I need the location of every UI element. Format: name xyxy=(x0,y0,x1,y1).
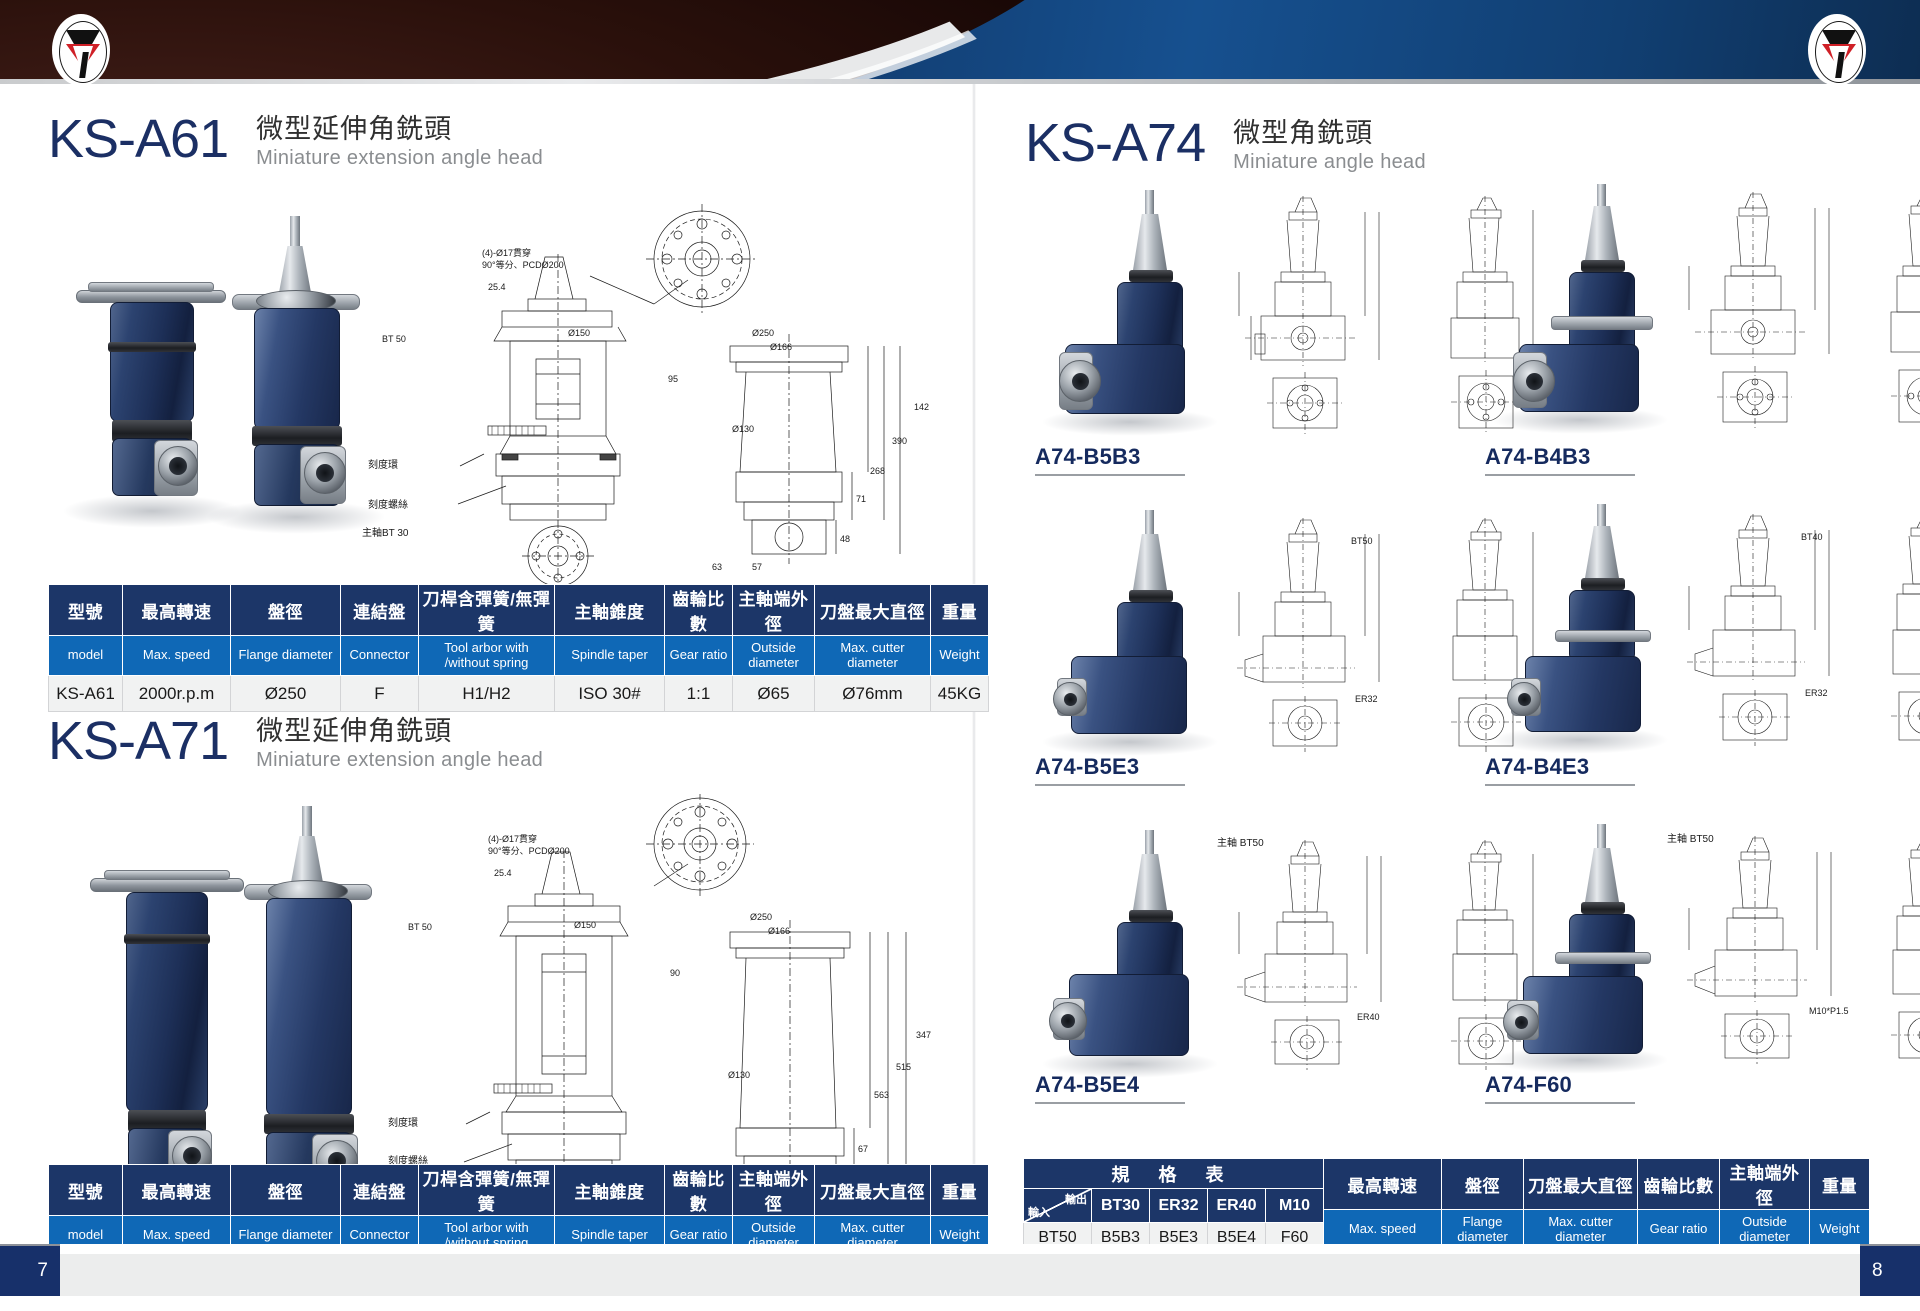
brand-logo-left xyxy=(52,14,110,84)
product-photo-ks-a61-taper xyxy=(196,202,396,532)
left-page: KS-A61 微型延伸角銑頭 Miniature extension angle… xyxy=(0,84,975,1244)
cad-dim-48: 48 xyxy=(840,534,850,544)
model-caption-a74-b4b3: A74-B4B3 xyxy=(1485,444,1635,473)
cad-label-b4e3-er32: ER32 xyxy=(1805,688,1828,698)
cad-dim-95: 95 xyxy=(668,374,678,384)
cad-label-a71-dia-mid: Ø250 xyxy=(750,912,772,922)
matrix-col-3: M10 xyxy=(1266,1189,1324,1223)
product-name-cn-ks-a74: 微型角銑頭 xyxy=(1233,118,1426,150)
cad-a74-b4e3: BT40 ER32 xyxy=(1675,510,1865,750)
cad-label-scale-ring: 刻度環 xyxy=(368,456,398,471)
model-label-a74-b5e3: A74-B5E3 xyxy=(1035,754,1139,779)
product-title-ks-a71: KS-A71 微型延伸角銑頭 Miniature extension angle… xyxy=(48,714,543,773)
cad-label-dia-mid: Ø250 xyxy=(752,328,774,338)
cad-label-dia-small: Ø130 xyxy=(732,424,754,434)
model-caption-a74-f60: A74-F60 xyxy=(1485,1072,1635,1101)
page-number-right: 8 xyxy=(1860,1244,1920,1296)
matrix-corner-output: 輸出 xyxy=(1065,1191,1087,1207)
spec-th-cn-a71-8: 刀盤最大直徑 xyxy=(815,1165,931,1216)
cad-a74-b4e3-side xyxy=(1855,510,1920,750)
page-number-left: 7 xyxy=(0,1244,60,1296)
catalog-spread: KS-A61 微型延伸角銑頭 Miniature extension angle… xyxy=(0,84,1920,1244)
spec-th-cn-5: 主軸錐度 xyxy=(555,585,665,636)
product-photo-a74-b5e4 xyxy=(1035,824,1225,1074)
spec-th-cn-2: 盤徑 xyxy=(231,585,341,636)
spec-td-3: F xyxy=(341,676,419,712)
spec-th-en-0: model xyxy=(49,636,123,676)
spec-th-cn-a74-5: 重量 xyxy=(1810,1159,1870,1210)
cad-dim-63: 63 xyxy=(712,562,722,572)
spec-td-1: 2000r.p.m xyxy=(123,676,231,712)
spec-th-cn-8: 刀盤最大直徑 xyxy=(815,585,931,636)
model-label-a74-b4b3: A74-B4B3 xyxy=(1485,444,1591,469)
matrix-header-row: 輸出 輸入 BT30 ER32 ER40 M10 xyxy=(1024,1189,1324,1223)
product-name-cn-ks-a71: 微型延伸角銑頭 xyxy=(256,716,543,748)
spec-td-8: Ø76mm xyxy=(815,676,931,712)
cad-label-a71-hole-note-2: 90°等分、PCDØ200 xyxy=(488,844,570,857)
cad-label-b5e3-er32: ER32 xyxy=(1355,694,1378,704)
cad-label-f60-m10: M10*P1.5 xyxy=(1809,1006,1849,1016)
cad-dim-390: 390 xyxy=(892,436,907,446)
product-photo-a74-b4b3 xyxy=(1485,180,1675,430)
product-code-ks-a74: KS-A74 xyxy=(1025,116,1205,170)
product-photo-ks-a71-taper xyxy=(208,792,408,1212)
cad-label-taper-bt50: BT 50 xyxy=(382,334,406,344)
cad-label-a71-scale-ring: 刻度環 xyxy=(388,1114,418,1129)
spec-td-4: H1/H2 xyxy=(419,676,555,712)
spec-th-cn-a71-5: 主軸錐度 xyxy=(555,1165,665,1216)
product-photo-a74-b5b3 xyxy=(1035,184,1225,434)
cad-dim-a71-67: 67 xyxy=(858,1144,868,1154)
spec-th-cn-a71-4: 刀桿含彈簧/無彈簧 xyxy=(419,1165,555,1216)
spec-th-en-2: Flange diameter xyxy=(231,636,341,676)
cad-dim-a71-347: 347 xyxy=(916,1030,931,1040)
product-photo-a74-b4e3 xyxy=(1485,500,1675,750)
spec-th-cn-4: 刀桿含彈簧/無彈簧 xyxy=(419,585,555,636)
cad-label-a71-dim-note: 25.4 xyxy=(494,868,512,878)
product-title-ks-a74: KS-A74 微型角銑頭 Miniature angle head xyxy=(1025,116,1426,175)
cad-a74-b4b3 xyxy=(1675,190,1865,430)
cad-dim-71: 71 xyxy=(856,494,866,504)
cad-label-dia-body: Ø166 xyxy=(770,342,792,352)
cad-a74-f60: 主軸 BT50 M10*P1.5 xyxy=(1675,828,1865,1068)
page-footer: 7 8 xyxy=(0,1244,1920,1311)
product-photo-a74-b5e3 xyxy=(1035,504,1225,754)
cad-dim-268: 268 xyxy=(870,466,885,476)
spec-header-row-cn-a74: 最高轉速 盤徑 刀盤最大直徑 齒輪比數 主軸端外徑 重量 xyxy=(1324,1159,1870,1210)
cad-label-a71-dia-small: Ø130 xyxy=(728,1070,750,1080)
spec-th-cn-a71-0: 型號 xyxy=(49,1165,123,1216)
spec-td-7: Ø65 xyxy=(733,676,815,712)
spec-td-2: Ø250 xyxy=(231,676,341,712)
page-header-banner xyxy=(0,0,1920,84)
cad-label-a71-taper-bt50: BT 50 xyxy=(408,922,432,932)
matrix-col-1: ER32 xyxy=(1150,1189,1208,1223)
spec-th-en-3: Connector xyxy=(341,636,419,676)
matrix-col-2: ER40 xyxy=(1208,1189,1266,1223)
spec-table-ks-a61: 型號 最高轉速 盤徑 連結盤 刀桿含彈簧/無彈簧 主軸錐度 齒輪比數 主軸端外徑… xyxy=(48,584,989,712)
matrix-title-row: 規 格 表 xyxy=(1024,1159,1324,1189)
cad-label-spindle-bt30: 主軸BT 30 xyxy=(362,524,409,539)
cad-dim-a71-563: 563 xyxy=(874,1090,889,1100)
spec-th-cn-7: 主軸端外徑 xyxy=(733,585,815,636)
spec-th-en-5: Spindle taper xyxy=(555,636,665,676)
cad-label-f60-spindle-bt50: 主軸 BT50 xyxy=(1667,830,1714,845)
model-label-a74-b4e3: A74-B4E3 xyxy=(1485,754,1589,779)
product-name-en-ks-a71: Miniature extension angle head xyxy=(256,748,543,773)
spec-th-cn-3: 連結盤 xyxy=(341,585,419,636)
cad-label-b5e4-er40: ER40 xyxy=(1357,1012,1380,1022)
cad-label-a71-dia-top: Ø150 xyxy=(574,920,596,930)
spec-header-row-cn-a71: 型號 最高轉速 盤徑 連結盤 刀桿含彈簧/無彈簧 主軸錐度 齒輪比數 主軸端外徑… xyxy=(49,1165,989,1216)
cad-dim-a71-90: 90 xyxy=(670,968,680,978)
cad-dim-142: 142 xyxy=(914,402,929,412)
spec-th-cn-a71-1: 最高轉速 xyxy=(123,1165,231,1216)
spec-th-en-7: Outside diameter xyxy=(733,636,815,676)
cad-label-b5e4-spindle-bt50: 主軸 BT50 xyxy=(1217,834,1264,849)
model-caption-a74-b5b3: A74-B5B3 xyxy=(1035,444,1185,473)
cad-a74-b5e4: 主軸 BT50 ER40 xyxy=(1225,832,1415,1072)
spec-th-cn-a74-3: 齒輪比數 xyxy=(1638,1159,1720,1210)
model-caption-a74-b4e3: A74-B4E3 xyxy=(1485,754,1635,783)
cad-label-b5e3-bt50: BT50 xyxy=(1351,536,1373,546)
catalog-page-spread: KS-A61 微型延伸角銑頭 Miniature extension angle… xyxy=(0,0,1920,1311)
spec-th-en-6: Gear ratio xyxy=(665,636,733,676)
cad-label-a71-dia-body: Ø166 xyxy=(768,926,790,936)
matrix-title: 規 格 表 xyxy=(1024,1159,1324,1189)
spec-th-en-4: Tool arbor with /without spring xyxy=(419,636,555,676)
product-name-cn-ks-a61: 微型延伸角銑頭 xyxy=(256,114,543,146)
spec-th-cn-a71-3: 連結盤 xyxy=(341,1165,419,1216)
brand-logo-right xyxy=(1808,14,1866,84)
spec-th-cn-a71-6: 齒輪比數 xyxy=(665,1165,733,1216)
cad-drawings-ks-a61: (4)-Ø17貫穿 90°等分、PCDØ200 25.4 BT 50 Ø150 … xyxy=(440,204,960,634)
spec-td-6: 1:1 xyxy=(665,676,733,712)
cad-a74-b5e3: BT50 ER32 xyxy=(1225,514,1415,754)
cad-dim-a71-515: 515 xyxy=(896,1062,911,1072)
cad-dim-57: 57 xyxy=(752,562,762,572)
spec-th-cn-6: 齒輪比數 xyxy=(665,585,733,636)
product-name-en-ks-a74: Miniature angle head xyxy=(1233,150,1426,175)
spec-th-cn-a71-2: 盤徑 xyxy=(231,1165,341,1216)
banner-white-highlight xyxy=(0,0,1140,84)
spec-th-cn-a74-0: 最高轉速 xyxy=(1324,1159,1442,1210)
matrix-corner-input: 輸入 xyxy=(1028,1204,1050,1220)
model-label-a74-f60: A74-F60 xyxy=(1485,1072,1572,1097)
spec-td-5: ISO 30# xyxy=(555,676,665,712)
spec-th-cn-1: 最高轉速 xyxy=(123,585,231,636)
spec-th-en-1: Max. speed xyxy=(123,636,231,676)
cad-label-dim-note: 25.4 xyxy=(488,282,506,292)
cad-label-hole-note-2: 90°等分、PCDØ200 xyxy=(482,258,564,271)
product-title-ks-a61: KS-A61 微型延伸角銑頭 Miniature extension angle… xyxy=(48,112,543,171)
cad-a74-b4b3-side xyxy=(1855,190,1920,430)
product-photo-a74-f60 xyxy=(1485,820,1675,1070)
product-code-ks-a61: KS-A61 xyxy=(48,112,228,166)
model-label-a74-b5b3: A74-B5B3 xyxy=(1035,444,1141,469)
matrix-col-0: BT30 xyxy=(1092,1189,1150,1223)
spec-header-row-en: model Max. speed Flange diameter Connect… xyxy=(49,636,989,676)
matrix-corner-cell: 輸出 輸入 xyxy=(1024,1189,1092,1223)
spec-td-0: KS-A61 xyxy=(49,676,123,712)
model-caption-a74-b5e3: A74-B5E3 xyxy=(1035,754,1185,783)
spec-value-row: KS-A61 2000r.p.m Ø250 F H1/H2 ISO 30# 1:… xyxy=(49,676,989,712)
cad-label-dia-top: Ø150 xyxy=(568,328,590,338)
right-page: KS-A74 微型角銑頭 Miniature angle head xyxy=(975,84,1920,1244)
spec-header-row-cn: 型號 最高轉速 盤徑 連結盤 刀桿含彈簧/無彈簧 主軸錐度 齒輪比數 主軸端外徑… xyxy=(49,585,989,636)
spec-th-cn-a74-1: 盤徑 xyxy=(1442,1159,1524,1210)
spec-th-cn-a71-7: 主軸端外徑 xyxy=(733,1165,815,1216)
footer-bar-left xyxy=(0,1254,960,1296)
model-label-a74-b5e4: A74-B5E4 xyxy=(1035,1072,1139,1097)
spec-th-cn-a74-2: 刀盤最大直徑 xyxy=(1524,1159,1638,1210)
spec-th-cn-0: 型號 xyxy=(49,585,123,636)
product-code-ks-a71: KS-A71 xyxy=(48,714,228,768)
cad-drawings-ks-a71: (4)-Ø17貫穿 90°等分、PCDØ200 25.4 BT 50 Ø150 … xyxy=(450,794,960,1214)
spec-th-en-8: Max. cutter diameter xyxy=(815,636,931,676)
spec-th-cn-a74-4: 主軸端外徑 xyxy=(1720,1159,1810,1210)
cad-a74-f60-side xyxy=(1855,828,1920,1068)
cad-label-b4e3-bt40: BT40 xyxy=(1801,532,1823,542)
cad-a74-b5b3 xyxy=(1225,194,1415,434)
product-name-en-ks-a61: Miniature extension angle head xyxy=(256,146,543,171)
cad-label-scale-screw: 刻度螺絲 xyxy=(368,496,408,511)
footer-bar-right xyxy=(960,1254,1920,1296)
model-caption-a74-b5e4: A74-B5E4 xyxy=(1035,1072,1185,1101)
